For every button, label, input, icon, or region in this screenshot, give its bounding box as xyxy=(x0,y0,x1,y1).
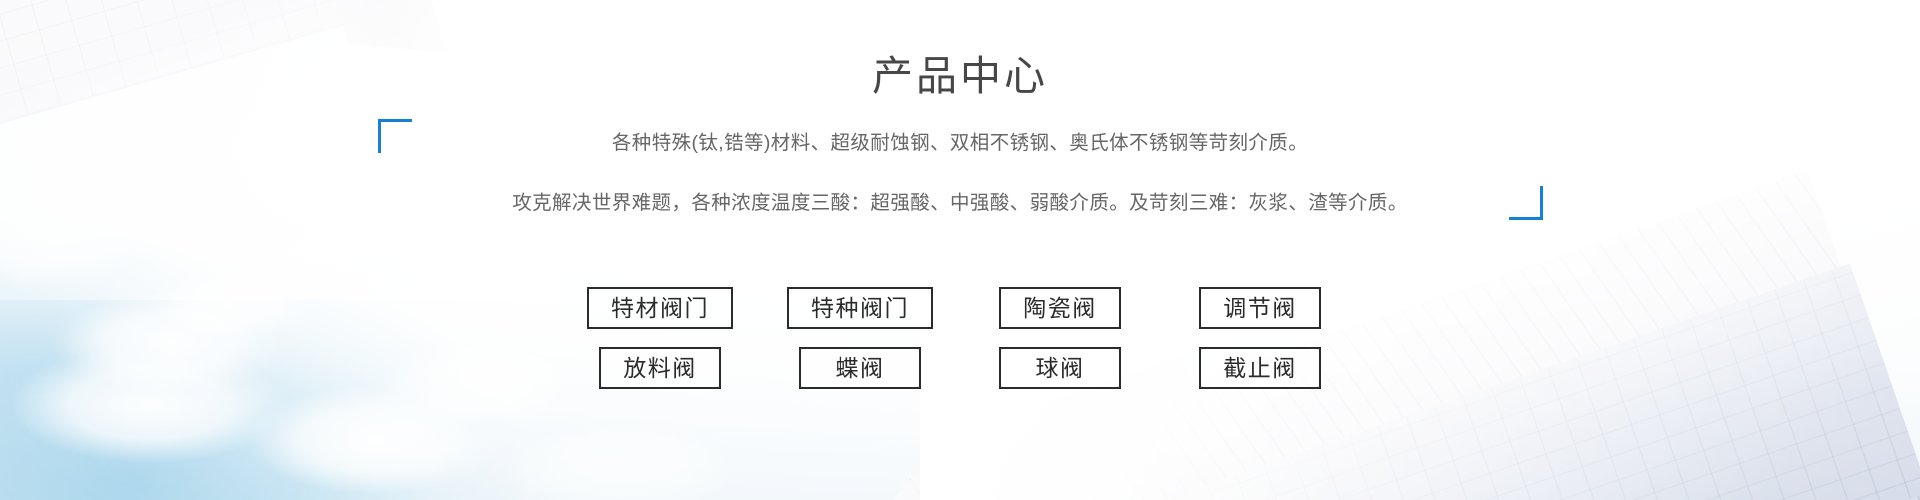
category-button-jiezhi-fa[interactable]: 截止阀 xyxy=(1199,347,1321,389)
category-button-tiaojie-fa[interactable]: 调节阀 xyxy=(1199,287,1321,329)
banner-content: 产品中心 各种特殊(钛,锆等)材料、超级耐蚀钢、双相不锈钢、奥氏体不锈钢等苛刻介… xyxy=(0,0,1920,500)
category-cell: 放料阀 xyxy=(560,347,760,389)
category-button-qiu-fa[interactable]: 球阀 xyxy=(999,347,1121,389)
product-category-row-2: 放料阀 蝶阀 球阀 截止阀 xyxy=(560,347,1360,389)
page-title: 产品中心 xyxy=(0,52,1920,101)
category-cell: 截止阀 xyxy=(1160,347,1360,389)
category-button-techai-famen[interactable]: 特材阀门 xyxy=(587,287,733,329)
category-cell: 特种阀门 xyxy=(760,287,960,329)
category-button-fangliao-fa[interactable]: 放料阀 xyxy=(599,347,721,389)
category-button-taoci-fa[interactable]: 陶瓷阀 xyxy=(999,287,1121,329)
category-cell: 陶瓷阀 xyxy=(960,287,1160,329)
description-block: 各种特殊(钛,锆等)材料、超级耐蚀钢、双相不锈钢、奥氏体不锈钢等苛刻介质。 攻克… xyxy=(0,122,1920,218)
description-line-1: 各种特殊(钛,锆等)材料、超级耐蚀钢、双相不锈钢、奥氏体不锈钢等苛刻介质。 xyxy=(0,128,1920,158)
category-cell: 调节阀 xyxy=(1160,287,1360,329)
category-button-tezhong-famen[interactable]: 特种阀门 xyxy=(787,287,933,329)
category-cell: 蝶阀 xyxy=(760,347,960,389)
product-category-row-1: 特材阀门 特种阀门 陶瓷阀 调节阀 xyxy=(560,287,1360,329)
product-category-grid: 特材阀门 特种阀门 陶瓷阀 调节阀 放料阀 蝶阀 xyxy=(0,287,1920,389)
product-center-banner: 产品中心 各种特殊(钛,锆等)材料、超级耐蚀钢、双相不锈钢、奥氏体不锈钢等苛刻介… xyxy=(0,0,1920,500)
description-line-2: 攻克解决世界难题，各种浓度温度三酸：超强酸、中强酸、弱酸介质。及苛刻三难：灰浆、… xyxy=(0,188,1920,218)
category-cell: 特材阀门 xyxy=(560,287,760,329)
category-button-die-fa[interactable]: 蝶阀 xyxy=(799,347,921,389)
category-cell: 球阀 xyxy=(960,347,1160,389)
